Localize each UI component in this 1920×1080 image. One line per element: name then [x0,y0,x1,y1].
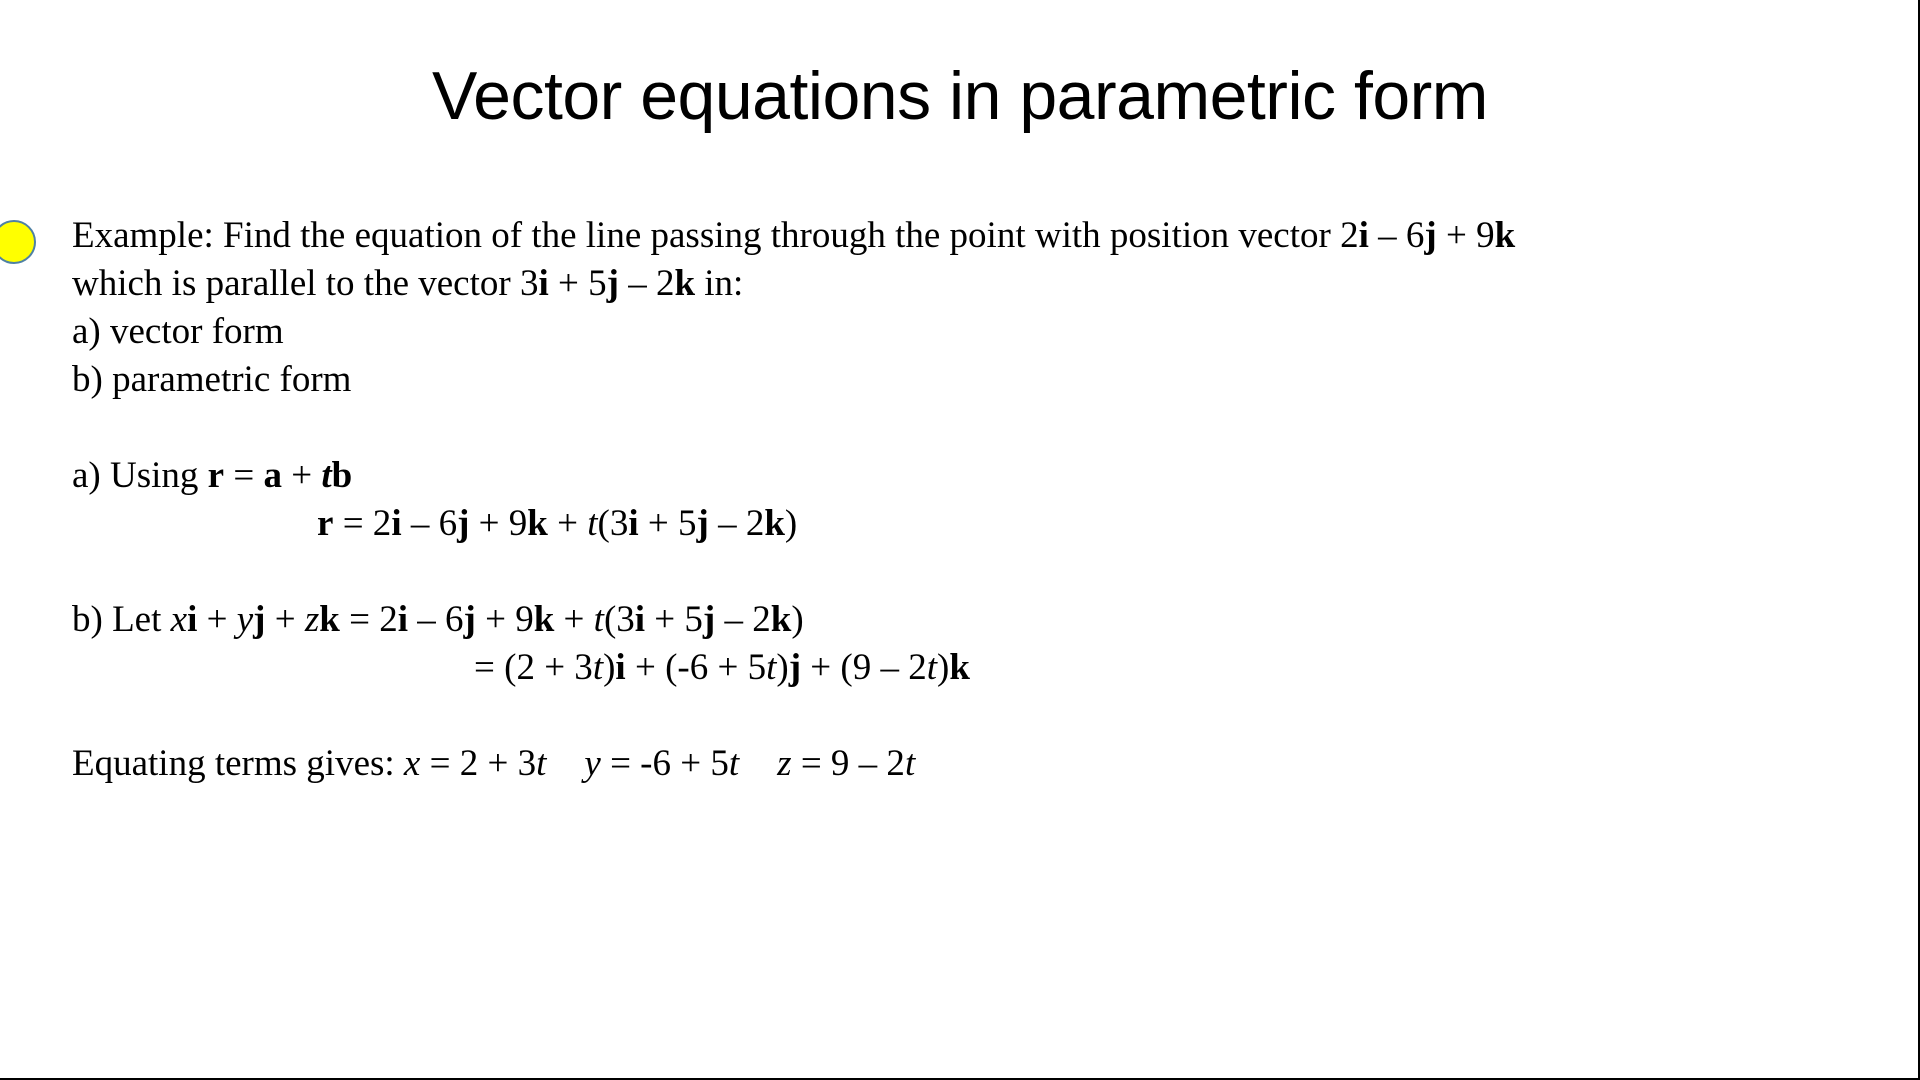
eq-part: ) [785,503,797,544]
parameter-t: t [766,647,776,688]
example-line-2: which is parallel to the vector 3i + 5j … [72,260,1830,308]
yellow-circle-bullet-icon [0,220,36,264]
page-title: Vector equations in parametric form [0,62,1920,130]
answer-b-expanded-equation: = (2 + 3t)i + (-6 + 5t)j + (9 – 2t)k [72,644,1830,692]
unit-vector-k: k [764,503,785,544]
option-a-vector-form: a) vector form [72,308,1830,356]
eq-part: + 9 [476,599,534,640]
variable-x: x [404,743,420,784]
eq-part: + 5 [645,599,703,640]
unit-vector-k: k [1495,215,1516,256]
eq-part: + [554,599,593,640]
variable-x: x [171,599,187,640]
variable-y: y [584,743,600,784]
example-line-2-sep-2: – 2 [619,263,675,304]
unit-vector-i: i [635,599,645,640]
unit-vector-i: i [615,647,625,688]
z-equation: = 9 – 2 [792,743,905,784]
eq-part: + [265,599,304,640]
example-line-2-suffix: in: [695,263,743,304]
eq-part: = 2 [333,503,391,544]
plus-sign: + [282,455,321,496]
unit-vector-i: i [628,503,638,544]
unit-vector-j: j [703,599,715,640]
parameter-t: t [321,455,331,496]
parameter-t: t [593,647,603,688]
eq-part: + 5 [639,503,697,544]
unit-vector-i: i [391,503,401,544]
parameter-t: t [927,647,937,688]
unit-vector-j: j [607,263,619,304]
example-line-1: Example: Find the equation of the line p… [72,212,1830,260]
answer-b-label: b) Let [72,599,171,640]
variable-z: z [305,599,319,640]
spacer [72,692,1830,740]
eq-part: (3 [598,503,629,544]
unit-vector-k: k [771,599,792,640]
unit-vector-j: j [789,647,801,688]
parameter-t: t [729,743,739,784]
vector-a: a [263,455,282,496]
vector-r: r [208,455,224,496]
eq-part: – 6 [408,599,464,640]
eq-part: + (-6 + 5 [626,647,766,688]
eq-part: (3 [604,599,635,640]
parameter-t: t [594,599,604,640]
unit-vector-k: k [534,599,555,640]
parameter-t: t [536,743,546,784]
eq-part: + [197,599,236,640]
parameter-t: t [905,743,915,784]
eq-part: + 9 [469,503,527,544]
example-paragraph: Example: Find the equation of the line p… [0,212,1830,788]
answer-a-label: a) Using [72,455,208,496]
unit-vector-k: k [527,503,548,544]
eq-part: – 2 [709,503,765,544]
unit-vector-k: k [674,263,695,304]
unit-vector-j: j [1424,215,1436,256]
eq-part: – 6 [402,503,458,544]
eq-part: ) [937,647,949,688]
variable-z: z [777,743,791,784]
unit-vector-k: k [949,647,970,688]
eq-part: + [548,503,587,544]
spacer [72,404,1830,452]
example-line-2-sep-1: + 5 [549,263,607,304]
answer-b-let-line: b) Let xi + yj + zk = 2i – 6j + 9k + t(3… [72,596,1830,644]
vector-r: r [317,503,333,544]
unit-vector-j: j [253,599,265,640]
content-placeholder: Example: Find the equation of the line p… [0,212,1830,788]
unit-vector-k: k [319,599,340,640]
eq-part: ) [603,647,615,688]
eq-part: ) [776,647,788,688]
answer-a-using-line: a) Using r = a + tb [72,452,1830,500]
unit-vector-i: i [398,599,408,640]
x-equation: = 2 + 3 [420,743,536,784]
option-b-parametric-form: b) parametric form [72,356,1830,404]
variable-y: y [237,599,253,640]
equals-sign: = [224,455,263,496]
unit-vector-j: j [464,599,476,640]
example-line-1-sep-1: – 6 [1369,215,1425,256]
title-placeholder: Vector equations in parametric form [0,62,1920,130]
y-equation: = -6 + 5 [601,743,729,784]
spacer [72,548,1830,596]
unit-vector-i: i [187,599,197,640]
eq-part: + (9 – 2 [801,647,927,688]
unit-vector-i: i [538,263,548,304]
eq-part: = 2 [340,599,398,640]
unit-vector-j: j [457,503,469,544]
vector-b: b [332,455,353,496]
unit-vector-j: j [697,503,709,544]
answer-a-equation: r = 2i – 6j + 9k + t(3i + 5j – 2k) [72,500,1830,548]
example-line-1-sep-2: + 9 [1437,215,1495,256]
eq-part: = (2 + 3 [474,647,593,688]
equating-terms-label: Equating terms gives: [72,743,404,784]
eq-part: – 2 [715,599,771,640]
example-line-1-text: Example: Find the equation of the line p… [72,215,1359,256]
example-line-2-text: which is parallel to the vector 3 [72,263,538,304]
equating-terms-line: Equating terms gives: x = 2 + 3ty = -6 +… [72,740,1830,788]
parameter-t: t [587,503,597,544]
slide-canvas: Vector equations in parametric form Exam… [0,0,1920,1080]
eq-part: ) [791,599,803,640]
unit-vector-i: i [1359,215,1369,256]
